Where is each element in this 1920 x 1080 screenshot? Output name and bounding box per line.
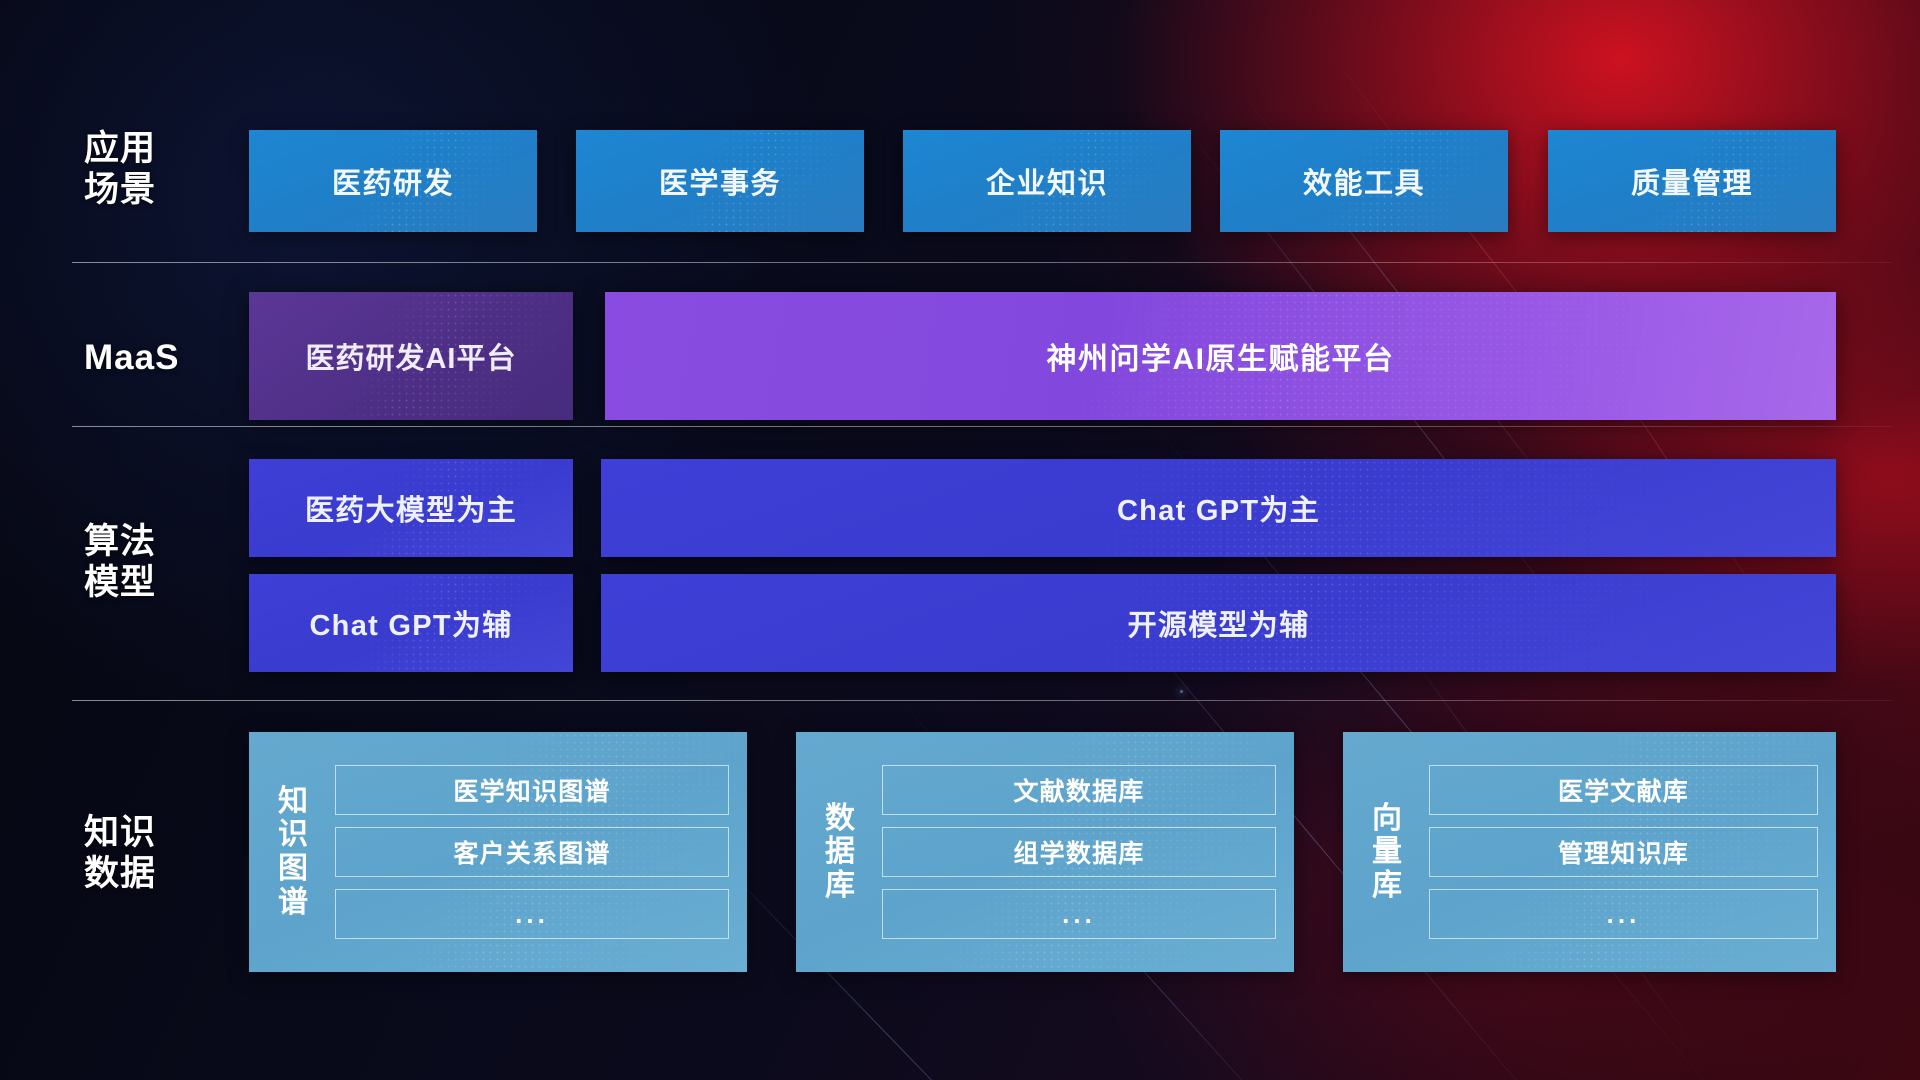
algo-box-opensource-secondary[interactable]: 开源模型为辅 xyxy=(601,574,1836,672)
app-box-label: 质量管理 xyxy=(1631,160,1753,202)
knowledge-group-label: 知识图谱 xyxy=(265,785,321,919)
knowledge-item[interactable]: 医学知识图谱 xyxy=(335,765,729,815)
divider-algorithm-knowledge xyxy=(72,700,1892,701)
algo-box-label: Chat GPT为辅 xyxy=(309,602,512,644)
row-label-application: 应用 场景 xyxy=(84,128,234,211)
knowledge-item-more[interactable]: ... xyxy=(1429,889,1818,939)
app-box-medical-affairs[interactable]: 医学事务 xyxy=(576,130,864,232)
algo-box-label: 开源模型为辅 xyxy=(1128,602,1310,644)
divider-application-maas xyxy=(72,262,1892,263)
maas-box-label: 神州问学AI原生赋能平台 xyxy=(1047,334,1395,378)
app-box-label: 医药研发 xyxy=(332,160,454,202)
knowledge-item[interactable]: 医学文献库 xyxy=(1429,765,1818,815)
divider-maas-algorithm xyxy=(72,426,1892,427)
algo-box-chatgpt-primary[interactable]: Chat GPT为主 xyxy=(601,459,1836,557)
maas-box-label: 医药研发AI平台 xyxy=(305,335,516,377)
knowledge-group-database[interactable]: 数据库 文献数据库 组学数据库 ... xyxy=(796,732,1294,972)
maas-box-medical-ai-platform[interactable]: 医药研发AI平台 xyxy=(249,292,573,420)
knowledge-item-list: 医学文献库 管理知识库 ... xyxy=(1429,765,1818,939)
app-box-medical-rd[interactable]: 医药研发 xyxy=(249,130,537,232)
app-box-efficiency-tools[interactable]: 效能工具 xyxy=(1220,130,1508,232)
diagram-canvas: 应用 场景 医药研发 医学事务 企业知识 效能工具 质量管理 MaaS 医药研发… xyxy=(0,0,1920,1080)
app-box-label: 效能工具 xyxy=(1303,160,1425,202)
app-box-label: 企业知识 xyxy=(986,160,1108,202)
knowledge-item[interactable]: 客户关系图谱 xyxy=(335,827,729,877)
algo-box-medical-llm-primary[interactable]: 医药大模型为主 xyxy=(249,459,573,557)
knowledge-group-vector-store[interactable]: 向量库 医学文献库 管理知识库 ... xyxy=(1343,732,1836,972)
algo-box-label: Chat GPT为主 xyxy=(1117,487,1320,529)
algo-box-chatgpt-secondary[interactable]: Chat GPT为辅 xyxy=(249,574,573,672)
knowledge-group-label: 数据库 xyxy=(812,802,868,903)
knowledge-item-list: 医学知识图谱 客户关系图谱 ... xyxy=(335,765,729,939)
knowledge-item[interactable]: 文献数据库 xyxy=(882,765,1276,815)
maas-box-shenzhou-wenxue-platform[interactable]: 神州问学AI原生赋能平台 xyxy=(605,292,1836,420)
app-box-enterprise-knowledge[interactable]: 企业知识 xyxy=(903,130,1191,232)
algo-box-label: 医药大模型为主 xyxy=(305,487,517,529)
knowledge-item[interactable]: 管理知识库 xyxy=(1429,827,1818,877)
row-label-knowledge: 知识 数据 xyxy=(84,812,234,895)
app-box-label: 医学事务 xyxy=(659,160,781,202)
app-box-quality-management[interactable]: 质量管理 xyxy=(1548,130,1836,232)
knowledge-item-more[interactable]: ... xyxy=(335,889,729,939)
knowledge-item[interactable]: 组学数据库 xyxy=(882,827,1276,877)
knowledge-group-label: 向量库 xyxy=(1359,802,1415,903)
knowledge-item-more[interactable]: ... xyxy=(882,889,1276,939)
knowledge-item-list: 文献数据库 组学数据库 ... xyxy=(882,765,1276,939)
knowledge-group-knowledge-graph[interactable]: 知识图谱 医学知识图谱 客户关系图谱 ... xyxy=(249,732,747,972)
row-label-maas: MaaS xyxy=(84,337,234,378)
row-label-algorithm: 算法 模型 xyxy=(84,521,234,604)
